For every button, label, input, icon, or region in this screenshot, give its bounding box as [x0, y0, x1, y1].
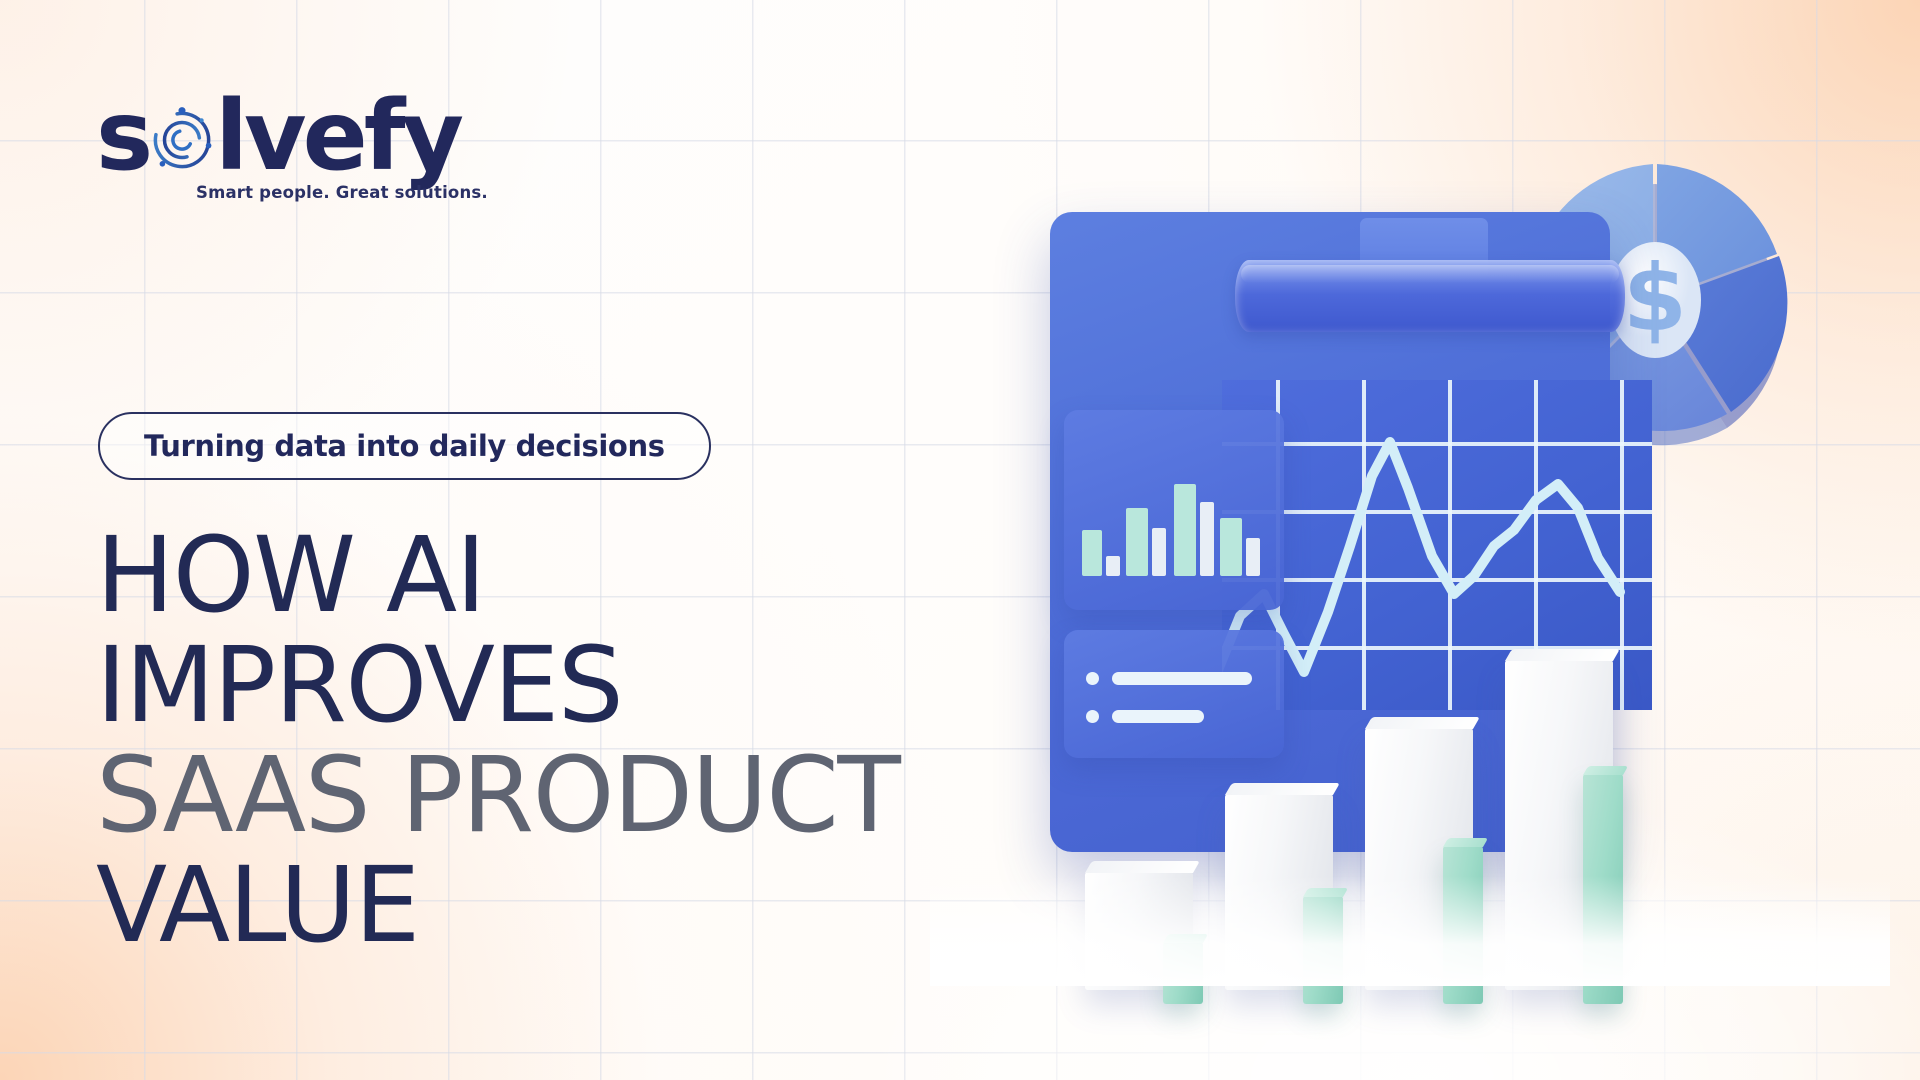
mini-bar: [1174, 484, 1196, 576]
analytics-dashboard-3d-illustration: $: [930, 150, 1890, 980]
dollar-sign-icon: $: [1623, 245, 1687, 352]
pill-label: Turning data into daily decisions: [144, 429, 665, 463]
headline-line-4: VALUE: [96, 850, 899, 960]
poster-canvas: s lvefy Smart: [0, 0, 1920, 1080]
logo-wordmark: s lvefy: [96, 88, 460, 184]
network-circle-icon: [147, 94, 217, 164]
headline-line-2: IMPROVES: [96, 630, 899, 740]
headline-line-3: SAAS PRODUCT: [96, 740, 899, 850]
bar-teal: [1583, 774, 1623, 1004]
mini-bar: [1246, 538, 1260, 576]
brand-tagline: Smart people. Great solutions.: [196, 183, 488, 202]
mini-bar: [1106, 556, 1120, 576]
bar-teal: [1443, 846, 1483, 1004]
tagline-pill-badge[interactable]: Turning data into daily decisions: [98, 412, 711, 480]
mini-bar: [1152, 528, 1166, 576]
brand-logo[interactable]: s lvefy Smart: [96, 88, 460, 184]
mini-bar: [1220, 518, 1242, 576]
clipboard-clamp: [1235, 260, 1625, 332]
logo-text-after: lvefy: [215, 88, 460, 184]
mini-bar: [1200, 502, 1214, 576]
headline-line-1: HOW AI: [96, 520, 899, 630]
page-title: HOW AI IMPROVES SAAS PRODUCT VALUE: [96, 520, 899, 960]
mini-bar: [1082, 530, 1102, 576]
3d-bar-chart: [1085, 580, 1705, 990]
mini-bar: [1126, 508, 1148, 576]
bar-teal: [1303, 896, 1343, 1004]
logo-text-before: s: [96, 88, 149, 184]
bar-teal: [1163, 942, 1203, 1004]
